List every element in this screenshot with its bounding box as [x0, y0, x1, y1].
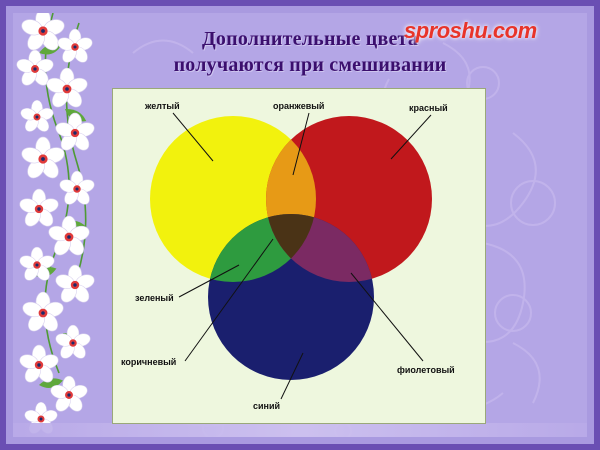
- label-yellow: желтый: [144, 101, 180, 111]
- slide: Дополнительные цвета получаются при смеш…: [0, 0, 600, 450]
- venn-diagram-card: желтый оранжевый красный зеленый коричне…: [112, 88, 486, 424]
- title-line-2: получаются при смешивании: [100, 52, 520, 78]
- venn-circles: [150, 116, 432, 380]
- bottom-decoration-strip: [13, 423, 587, 437]
- floral-decoration-strip: [13, 13, 105, 437]
- venn-diagram: желтый оранжевый красный зеленый коричне…: [113, 89, 485, 423]
- label-blue: синий: [253, 401, 280, 411]
- label-red: красный: [409, 103, 448, 113]
- flowers-svg: [13, 13, 105, 437]
- label-orange: оранжевый: [273, 101, 324, 111]
- watermark: sproshu.com: [404, 18, 537, 44]
- label-brown: коричневый: [121, 357, 176, 367]
- label-green: зеленый: [135, 293, 174, 303]
- label-violet: фиолетовый: [397, 365, 455, 375]
